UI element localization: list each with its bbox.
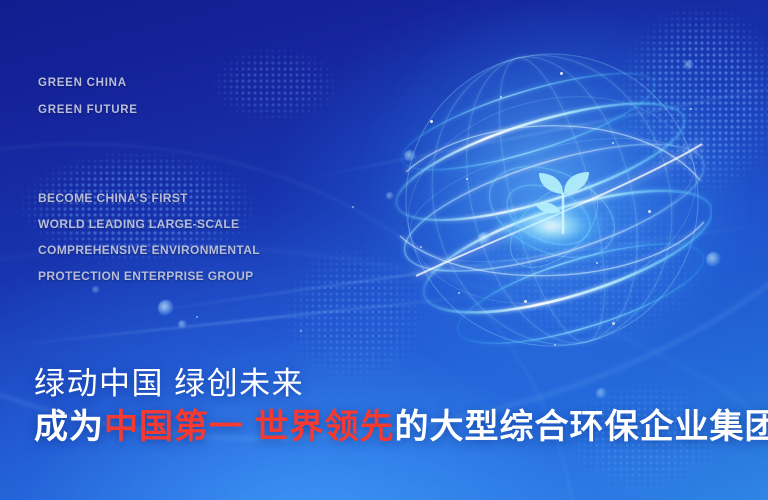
hero-banner: GREEN CHINA GREEN FUTURE BECOME CHINA'S … bbox=[0, 0, 768, 500]
mission-line-2: WORLD LEADING LARGE-SCALE bbox=[38, 211, 260, 237]
particle bbox=[560, 72, 563, 75]
light-streak bbox=[1, 291, 518, 347]
particle bbox=[300, 330, 302, 332]
particle bbox=[420, 246, 422, 248]
bokeh-dot bbox=[404, 150, 416, 162]
particle bbox=[524, 300, 527, 303]
dot-matrix-continent bbox=[430, 150, 750, 380]
bokeh-dot bbox=[158, 300, 174, 316]
particle bbox=[612, 322, 615, 325]
mission-line-1: BECOME CHINA'S FIRST bbox=[38, 185, 260, 211]
mission-statement-block: BECOME CHINA'S FIRST WORLD LEADING LARGE… bbox=[38, 185, 260, 289]
headline-line-2: 成为中国第一 世界领先的大型综合环保企业集团 bbox=[34, 404, 768, 450]
particle bbox=[612, 142, 614, 144]
bokeh-dot bbox=[478, 232, 491, 245]
headline-block: 绿动中国 绿创未来 成为中国第一 世界领先的大型综合环保企业集团 bbox=[34, 364, 768, 450]
light-streak bbox=[305, 78, 768, 179]
particle bbox=[430, 120, 433, 123]
globe-halo bbox=[352, 0, 752, 400]
sprout-icon bbox=[523, 163, 603, 238]
particle bbox=[466, 178, 468, 180]
dot-matrix-continent bbox=[180, 30, 370, 140]
particle bbox=[500, 96, 502, 98]
particle bbox=[690, 108, 692, 110]
particle bbox=[596, 262, 598, 264]
bokeh-dot bbox=[706, 252, 721, 267]
particle bbox=[458, 292, 460, 294]
particle bbox=[352, 206, 354, 208]
headline-part-suffix: 的大型综合环保企业集团 bbox=[394, 408, 768, 446]
wireframe-globe bbox=[392, 40, 712, 360]
bokeh-dot bbox=[386, 192, 394, 200]
headline-part-highlight: 中国第一 世界领先 bbox=[104, 408, 394, 446]
headline-part-prefix: 成为 bbox=[34, 408, 104, 446]
tagline-line-1: GREEN CHINA bbox=[38, 70, 138, 97]
particle bbox=[554, 344, 556, 346]
bokeh-dot bbox=[684, 60, 694, 70]
globe-core-glow bbox=[492, 196, 612, 256]
particle bbox=[196, 316, 198, 318]
dot-matrix-continent bbox=[585, 0, 768, 220]
headline-line-1: 绿动中国 绿创未来 bbox=[34, 364, 768, 404]
particle bbox=[648, 210, 651, 213]
mission-line-3: COMPREHENSIVE ENVIRONMENTAL bbox=[38, 237, 260, 263]
tagline-line-2: GREEN FUTURE bbox=[38, 97, 138, 124]
mission-line-4: PROTECTION ENTERPRISE GROUP bbox=[38, 263, 260, 289]
bokeh-dot bbox=[178, 320, 187, 329]
tagline-block: GREEN CHINA GREEN FUTURE bbox=[38, 70, 138, 124]
